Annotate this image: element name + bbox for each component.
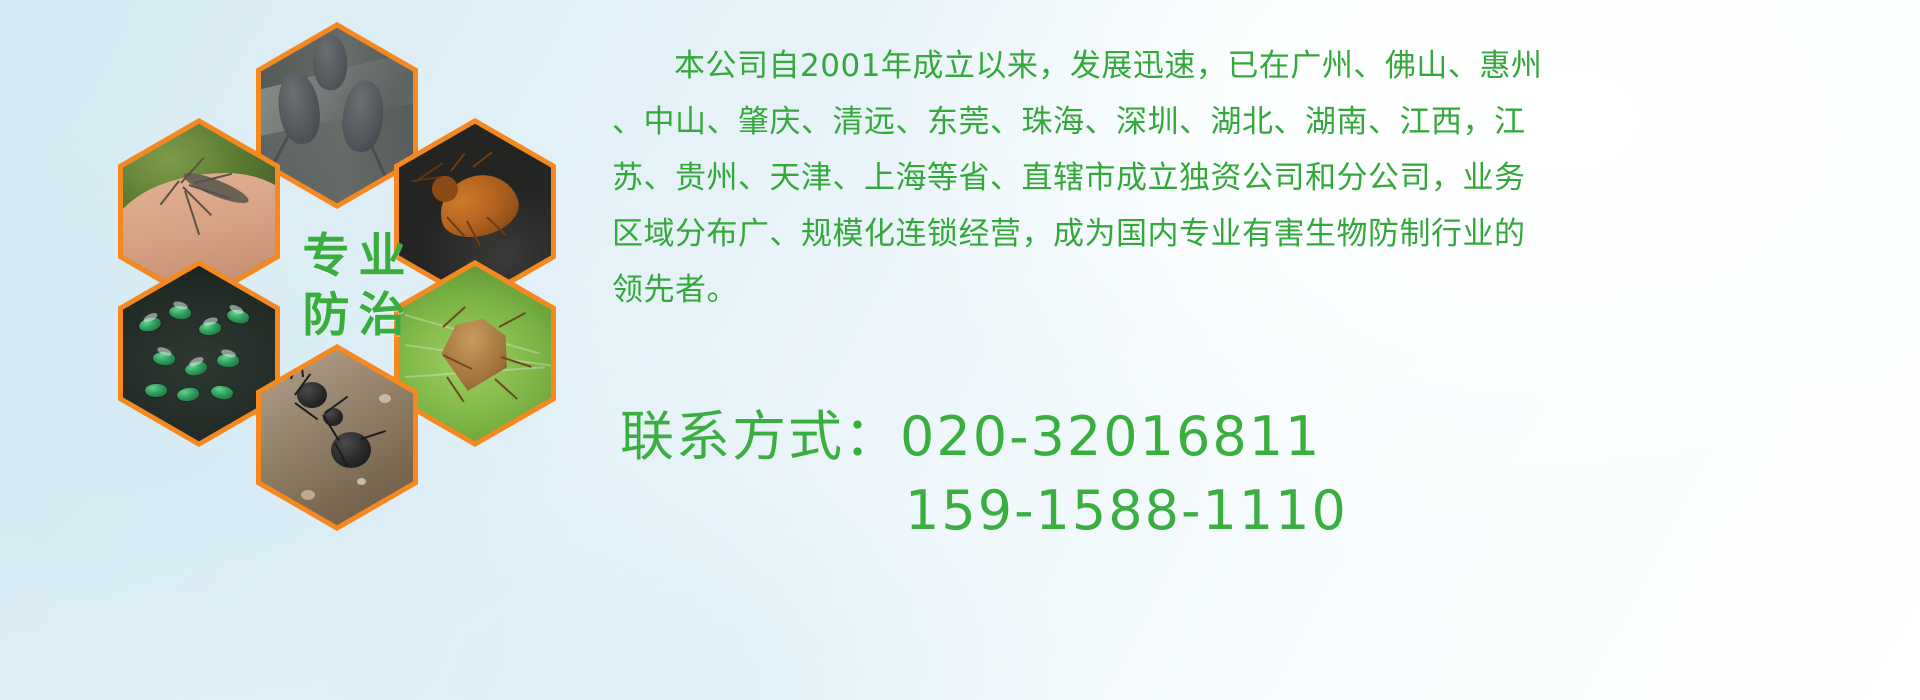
intro-line-3: 苏、贵州、天津、上海等省、直辖市成立独资公司和分公司，业务: [612, 150, 1882, 206]
emblem-word-line1: 专业: [294, 232, 415, 281]
hex-cell-flies[interactable]: [118, 260, 280, 447]
contact-primary-line: 联系方式：020-32016811: [620, 400, 1900, 474]
hex-cell-rats[interactable]: [256, 22, 418, 209]
banner-root: 专业 防治 本公司自2001年成立以来，发展迅速，已在广州、佛山、惠州 、中山、…: [0, 0, 1920, 700]
hex-collage: 专业 防治: [88, 8, 608, 568]
phone-primary[interactable]: 020-32016811: [900, 405, 1321, 468]
rats-icon: [261, 28, 413, 203]
intro-line-4: 区域分布广、规模化连锁经营，成为国内专业有害生物防制行业的: [612, 206, 1882, 262]
intro-line-1-text: 本公司自2001年成立以来，发展迅速，已在广州、佛山、惠州: [674, 48, 1542, 84]
flies-icon: [123, 266, 275, 441]
phone-secondary[interactable]: 159-1588-1110: [905, 479, 1348, 542]
contact-label: 联系方式：: [620, 405, 900, 468]
intro-line-5: 领先者。: [612, 262, 1882, 318]
contact-block: 联系方式：020-32016811 159-1588-1110: [620, 400, 1900, 548]
emblem-word-line2: 防治: [294, 291, 415, 340]
contact-secondary-line: 159-1588-1110: [620, 474, 1900, 548]
intro-line-2: 、中山、肇庆、清远、东莞、珠海、深圳、湖北、湖南、江西，江: [612, 94, 1882, 150]
emblem-center-text: 专业 防治: [266, 186, 442, 386]
intro-line-1: 本公司自2001年成立以来，发展迅速，已在广州、佛山、惠州: [612, 38, 1882, 94]
company-intro: 本公司自2001年成立以来，发展迅速，已在广州、佛山、惠州 、中山、肇庆、清远、…: [612, 38, 1882, 318]
